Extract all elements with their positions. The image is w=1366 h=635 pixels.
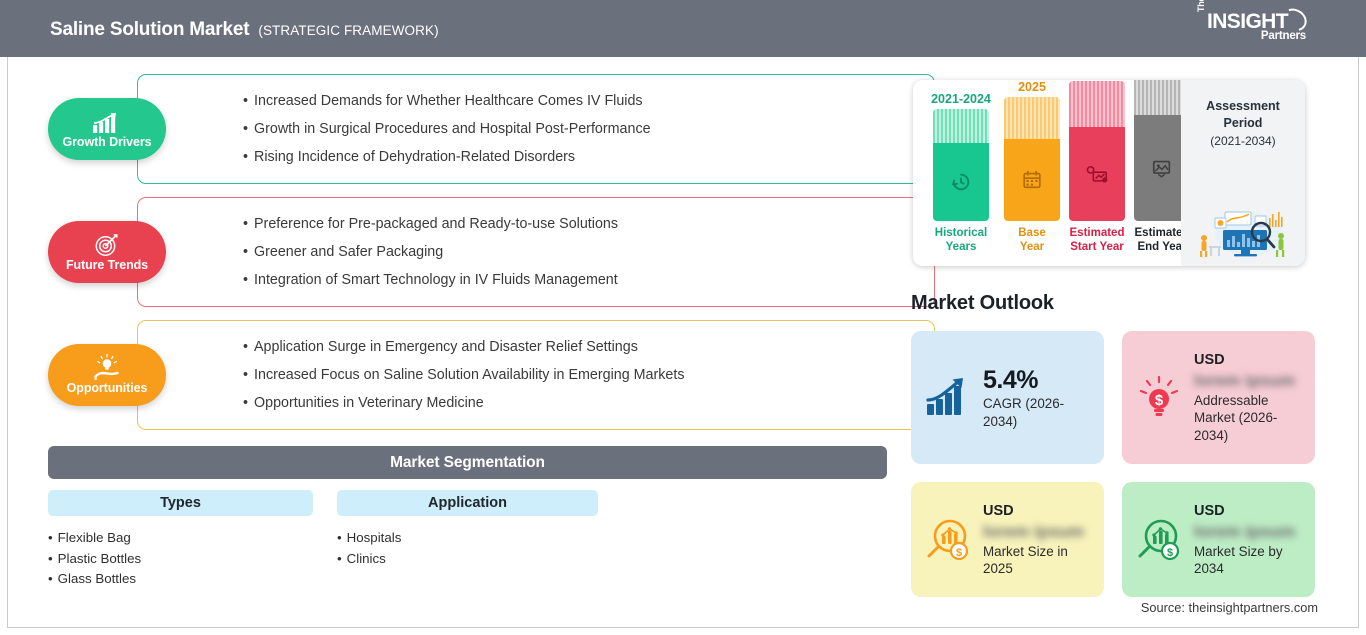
bar-stripe	[1069, 81, 1125, 127]
card-inner: $ USD lorem ipsum Addressable Market (20…	[1122, 331, 1315, 464]
assessment-period-panel: Assessment Period (2021-2034)	[1181, 80, 1305, 266]
lightbulb-dollar-icon: $	[1132, 375, 1186, 421]
bar-caption: Estimated Start Year	[1070, 226, 1125, 254]
redacted-value: lorem ipsum	[983, 521, 1096, 543]
section-growth-drivers: •Increased Demands for Whether Healthcar…	[48, 74, 887, 184]
list-item: •Growth in Surgical Procedures and Hospi…	[243, 115, 918, 143]
badge-future-trends[interactable]: Future Trends	[48, 221, 166, 283]
logo-the-text: The	[1196, 0, 1206, 12]
bullet-text: Greener and Safer Packaging	[254, 244, 443, 260]
segment-text: Flexible Bag	[58, 530, 131, 545]
market-size-2025-label: Market Size in 2025	[983, 543, 1096, 578]
card-inner: $ USD lorem ipsum Market Size in 2025	[911, 482, 1104, 597]
bullet-dot-icon: •	[243, 149, 248, 165]
bar-stripe	[933, 109, 989, 143]
list-item: •Increased Demands for Whether Healthcar…	[243, 87, 918, 115]
currency-label: USD	[983, 502, 1096, 521]
section-opportunities: •Application Surge in Emergency and Disa…	[48, 320, 887, 430]
analytics-dashboard-illustration	[1189, 204, 1297, 260]
badge-label: Opportunities	[67, 381, 148, 395]
bullet-text: Opportunities in Veterinary Medicine	[254, 395, 484, 411]
list-item: •Preference for Pre-packaged and Ready-t…	[243, 210, 918, 238]
bar-shape	[1069, 81, 1125, 221]
market-size-2034-label: Market Size by 2034	[1194, 543, 1307, 578]
infographic-page: Saline Solution Market (STRATEGIC FRAMEW…	[0, 0, 1366, 635]
svg-text:$: $	[1155, 392, 1164, 409]
currency-label: USD	[1194, 351, 1307, 370]
segmentation-list: •Flexible Bag •Plastic Bottles •Glass Bo…	[48, 528, 313, 590]
badge-opportunities[interactable]: Opportunities	[48, 344, 166, 406]
market-outlook-title: Market Outlook	[911, 292, 1054, 315]
calendar-icon	[1021, 169, 1043, 191]
logo-partners-text: Partners	[1261, 30, 1306, 42]
source-attribution: Source: theinsightpartners.com	[1141, 600, 1318, 615]
bar-caption: Base Year	[1018, 226, 1046, 254]
bar-chart-growth-icon	[92, 110, 122, 134]
card-text: USD lorem ipsum Addressable Market (2026…	[1194, 351, 1307, 445]
addressable-market-label: Addressable Market (2026-2034)	[1194, 392, 1307, 445]
bullet-text: Preference for Pre-packaged and Ready-to…	[254, 216, 618, 232]
list-item: •Rising Incidence of Dehydration-Related…	[243, 143, 918, 171]
card-inner: $ USD lorem ipsum Market Size by 2034	[1122, 482, 1315, 597]
bullet-dot-icon: •	[243, 93, 248, 109]
bullet-text: Increased Demands for Whether Healthcare…	[254, 93, 643, 109]
bullet-dot-icon: •	[337, 551, 342, 566]
opportunities-bullets: •Application Surge in Emergency and Disa…	[243, 321, 918, 429]
redacted-value: lorem ipsum	[1194, 521, 1307, 543]
svg-text:$: $	[956, 547, 962, 559]
bullet-text: Application Surge in Emergency and Disas…	[254, 339, 638, 355]
assessment-bar-historical: 2021-2024 Historical Years	[923, 94, 999, 254]
bar-caption: Historical Years	[935, 226, 987, 254]
bar-caption-line2: Years	[935, 240, 987, 254]
badge-label: Future Trends	[66, 258, 148, 272]
list-item: •Increased Focus on Saline Solution Avai…	[243, 361, 918, 389]
segmentation-column-types: Types •Flexible Bag •Plastic Bottles •Gl…	[48, 490, 313, 590]
bullet-dot-icon: •	[48, 571, 53, 586]
magnifier-chart-dollar-icon: $	[1132, 518, 1186, 562]
gear-presentation-icon	[1085, 163, 1109, 185]
bullet-dot-icon: •	[243, 121, 248, 137]
segment-text: Plastic Bottles	[58, 551, 142, 566]
magnifier-chart-dollar-icon: $	[921, 518, 975, 562]
assessment-bar-estimated-start: 2026 Estimated Start Year	[1063, 82, 1131, 254]
assessment-range: (2021-2034)	[1181, 134, 1305, 148]
opportunities-box: •Application Surge in Emergency and Disa…	[137, 320, 935, 430]
bar-caption-line2: Year	[1018, 240, 1046, 254]
assessment-title: Assessment Period	[1181, 98, 1305, 132]
cagr-value: 5.4%	[983, 365, 1096, 395]
assessment-bars-panel: 2021-2024 Historical Years	[913, 80, 1181, 266]
list-item: •Integration of Smart Technology in IV F…	[243, 266, 918, 294]
bullet-dot-icon: •	[48, 551, 53, 566]
list-item: •Flexible Bag	[48, 528, 313, 549]
bar-shape	[1004, 97, 1060, 221]
bullet-text: Increased Focus on Saline Solution Avail…	[254, 367, 684, 383]
cagr-label: CAGR (2026-2034)	[983, 395, 1096, 430]
list-item: •Opportunities in Veterinary Medicine	[243, 389, 918, 417]
page-subtitle: (STRATEGIC FRAMEWORK)	[258, 23, 438, 38]
assessment-period-card: 2021-2024 Historical Years	[913, 80, 1305, 266]
card-text: USD lorem ipsum Market Size in 2025	[983, 502, 1096, 578]
bullet-dot-icon: •	[243, 216, 248, 232]
segmentation-column-title: Types	[48, 490, 313, 516]
bullet-dot-icon: •	[243, 244, 248, 260]
future-trends-bullets: •Preference for Pre-packaged and Ready-t…	[243, 198, 918, 306]
bullet-dot-icon: •	[337, 530, 342, 545]
bar-chart-arrow-icon	[921, 377, 975, 419]
header-title-group: Saline Solution Market (STRATEGIC FRAMEW…	[50, 19, 439, 41]
outlook-card-cagr[interactable]: 5.4% CAGR (2026-2034)	[911, 331, 1104, 464]
market-segmentation-header: Market Segmentation	[48, 446, 887, 479]
list-item: •Greener and Safer Packaging	[243, 238, 918, 266]
bar-caption-line1: Historical	[935, 226, 987, 240]
currency-label: USD	[1194, 502, 1307, 521]
assessment-bar-base-year: 2025 Base Year	[999, 94, 1065, 254]
bullet-dot-icon: •	[243, 395, 248, 411]
future-trends-box: •Preference for Pre-packaged and Ready-t…	[137, 197, 935, 307]
page-header: Saline Solution Market (STRATEGIC FRAMEW…	[0, 0, 1366, 57]
list-item: •Application Surge in Emergency and Disa…	[243, 333, 918, 361]
segmentation-column-application: Application •Hospitals •Clinics	[337, 490, 598, 569]
growth-drivers-bullets: •Increased Demands for Whether Healthcar…	[243, 75, 918, 183]
growth-drivers-box: •Increased Demands for Whether Healthcar…	[137, 74, 935, 184]
lightbulb-hand-icon	[93, 356, 121, 380]
bullet-text: Growth in Surgical Procedures and Hospit…	[254, 121, 651, 137]
segment-text: Glass Bottles	[58, 571, 136, 586]
assessment-title-line2: Period	[1181, 115, 1305, 132]
bullet-text: Rising Incidence of Dehydration-Related …	[254, 149, 575, 165]
segment-text: Hospitals	[347, 530, 402, 545]
bar-caption-line1: Estimated	[1070, 226, 1125, 240]
insight-partners-logo: The INSIGHT Partners	[1196, 10, 1308, 48]
segmentation-list: •Hospitals •Clinics	[337, 528, 598, 569]
list-item: •Plastic Bottles	[48, 549, 313, 570]
bar-stripe	[1004, 97, 1060, 139]
assessment-title-line1: Assessment	[1181, 98, 1305, 115]
card-text: 5.4% CAGR (2026-2034)	[983, 365, 1096, 430]
bar-caption-line2: Start Year	[1070, 240, 1125, 254]
history-clock-icon	[950, 171, 972, 193]
bullet-dot-icon: •	[48, 530, 53, 545]
bar-solid	[1069, 127, 1125, 221]
monitor-image-icon	[1150, 157, 1174, 179]
bar-shape	[933, 109, 989, 221]
redacted-value: lorem ipsum	[1194, 370, 1307, 392]
outlook-card-addressable-market[interactable]: $ USD lorem ipsum Addressable Market (20…	[1122, 331, 1315, 464]
page-title: Saline Solution Market	[50, 19, 249, 41]
bar-year-label: 2025	[1018, 80, 1046, 94]
bar-year-label: 2021-2024	[931, 92, 991, 106]
list-item: •Hospitals	[337, 528, 598, 549]
outlook-card-market-size-2034[interactable]: $ USD lorem ipsum Market Size by 2034	[1122, 482, 1315, 597]
svg-text:$: $	[1167, 547, 1173, 559]
bullet-text: Integration of Smart Technology in IV Fl…	[254, 272, 618, 288]
bar-solid	[1004, 139, 1060, 221]
section-future-trends: •Preference for Pre-packaged and Ready-t…	[48, 197, 887, 307]
badge-label: Growth Drivers	[63, 135, 152, 149]
list-item: •Clinics	[337, 549, 598, 570]
bullet-dot-icon: •	[243, 272, 248, 288]
card-inner: 5.4% CAGR (2026-2034)	[911, 331, 1104, 464]
bar-solid	[933, 143, 989, 221]
bullet-dot-icon: •	[243, 367, 248, 383]
badge-growth-drivers[interactable]: Growth Drivers	[48, 98, 166, 160]
card-text: USD lorem ipsum Market Size by 2034	[1194, 502, 1307, 578]
outlook-card-market-size-2025[interactable]: $ USD lorem ipsum Market Size in 2025	[911, 482, 1104, 597]
bar-caption-line1: Base	[1018, 226, 1046, 240]
list-item: •Glass Bottles	[48, 569, 313, 590]
segment-text: Clinics	[347, 551, 386, 566]
target-dart-icon	[94, 233, 120, 257]
bullet-dot-icon: •	[243, 339, 248, 355]
segmentation-column-title: Application	[337, 490, 598, 516]
